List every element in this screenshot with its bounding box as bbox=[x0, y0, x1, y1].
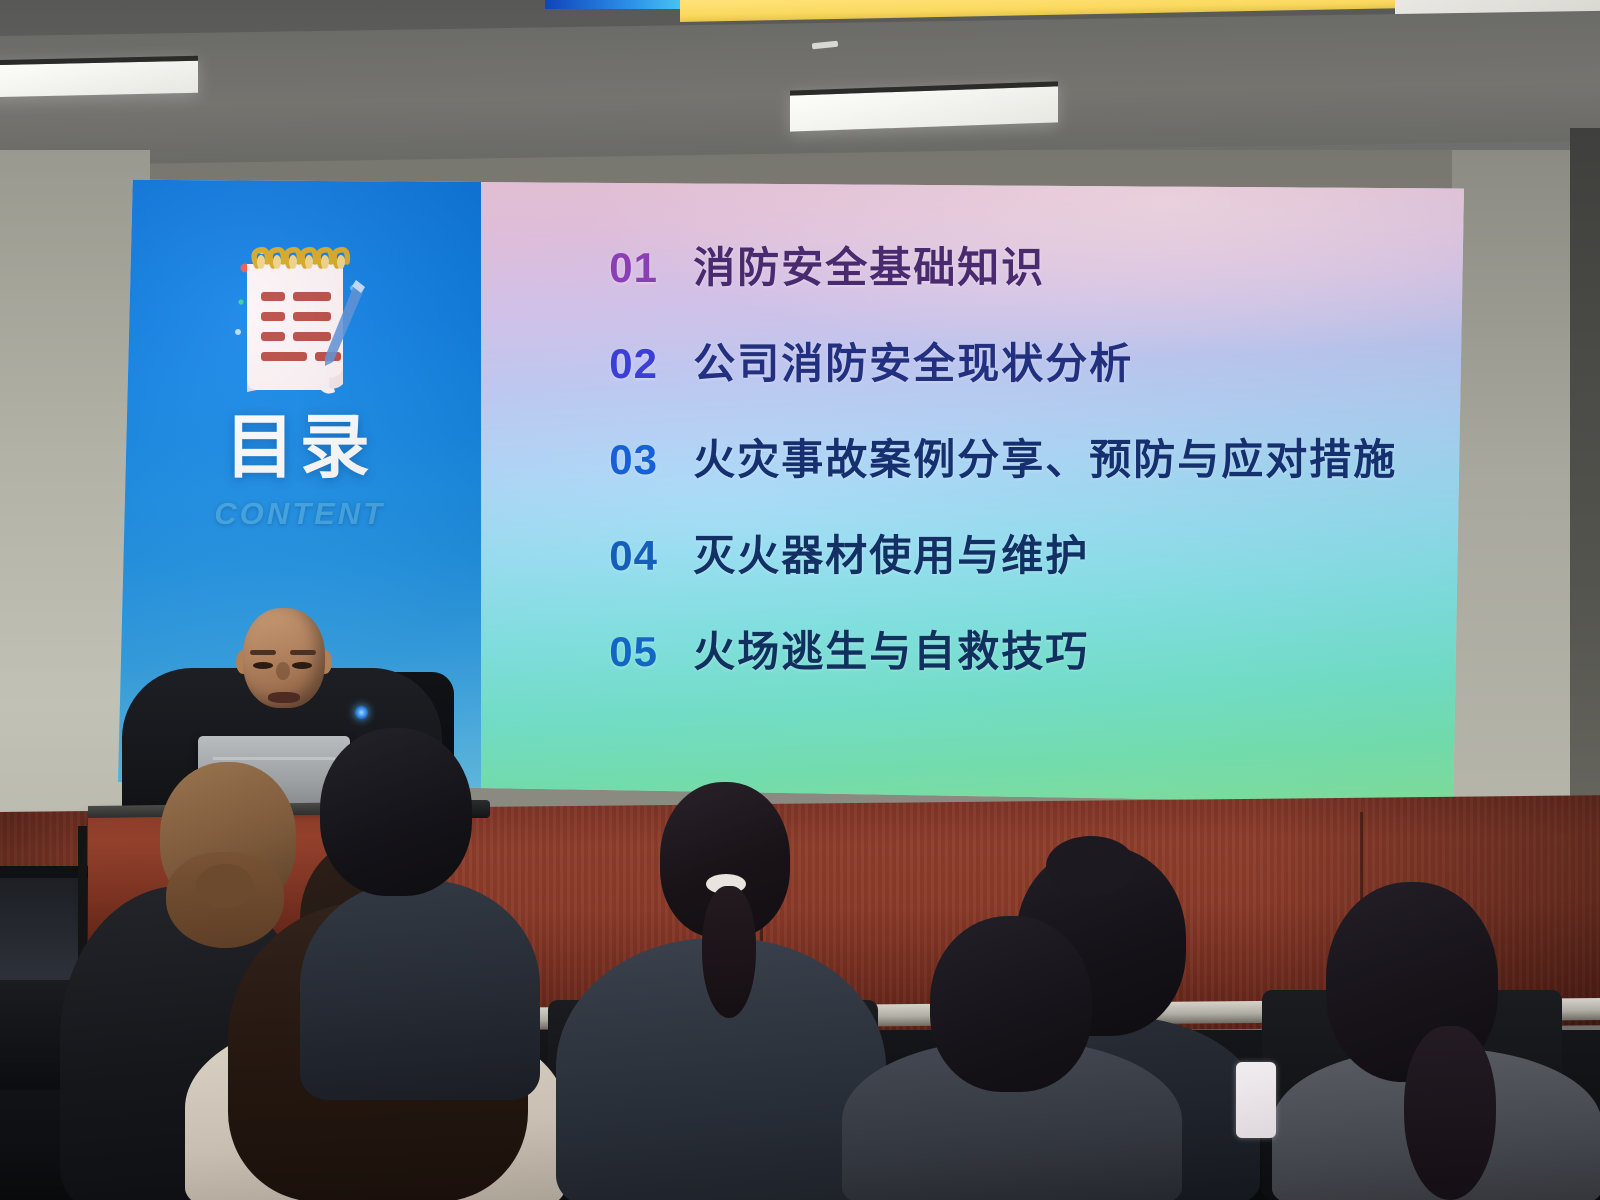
ceiling-soffit bbox=[0, 11, 1600, 166]
agenda-item-label: 火灾事故案例分享、预防与应对措施 bbox=[693, 426, 1397, 487]
agenda-item: 05火场逃生与自救技巧 bbox=[609, 618, 1444, 670]
agenda-item-label: 灭火器材使用与维护 bbox=[693, 522, 1089, 583]
smartphone bbox=[1236, 1062, 1276, 1138]
notepad-icon bbox=[225, 240, 375, 408]
agenda-item-number: 03 bbox=[609, 436, 693, 484]
agenda-item-label: 消防安全基础知识 bbox=[693, 234, 1045, 295]
agenda-item: 03火灾事故案例分享、预防与应对措施 bbox=[609, 426, 1444, 478]
agenda-item: 04灭火器材使用与维护 bbox=[609, 522, 1444, 574]
agenda-item-label: 火场逃生与自救技巧 bbox=[693, 618, 1089, 679]
slide-title-en: CONTENT bbox=[118, 496, 481, 532]
recessed-light-panel-left bbox=[0, 56, 198, 97]
presentation-room-photo: 目录 CONTENT 01消防安全基础知识02公司消防安全现状分析03火灾事故案… bbox=[0, 0, 1600, 1200]
presenter-eye-right bbox=[292, 662, 312, 669]
presenter-nose bbox=[276, 662, 290, 680]
presenter-eye-left bbox=[253, 662, 273, 669]
presenter-badge-light bbox=[355, 706, 368, 719]
ceiling-blue-light-strip bbox=[545, 0, 685, 9]
presenter-mouth bbox=[268, 692, 300, 703]
agenda-item-number: 05 bbox=[609, 628, 693, 676]
presenter-brow-right bbox=[290, 650, 316, 655]
agenda-item-number: 04 bbox=[609, 532, 693, 580]
agenda-list: 01消防安全基础知识02公司消防安全现状分析03火灾事故案例分享、预防与应对措施… bbox=[609, 234, 1444, 714]
agenda-item: 01消防安全基础知识 bbox=[609, 234, 1444, 286]
agenda-item-label: 公司消防安全现状分析 bbox=[693, 330, 1133, 391]
agenda-item: 02公司消防安全现状分析 bbox=[609, 330, 1444, 382]
presenter-brow-left bbox=[250, 650, 276, 655]
agenda-item-number: 02 bbox=[609, 340, 693, 388]
agenda-item-number: 01 bbox=[609, 244, 693, 292]
wall-right-edge-dark bbox=[1570, 128, 1600, 908]
slide-title-zh: 目录 bbox=[118, 412, 481, 482]
